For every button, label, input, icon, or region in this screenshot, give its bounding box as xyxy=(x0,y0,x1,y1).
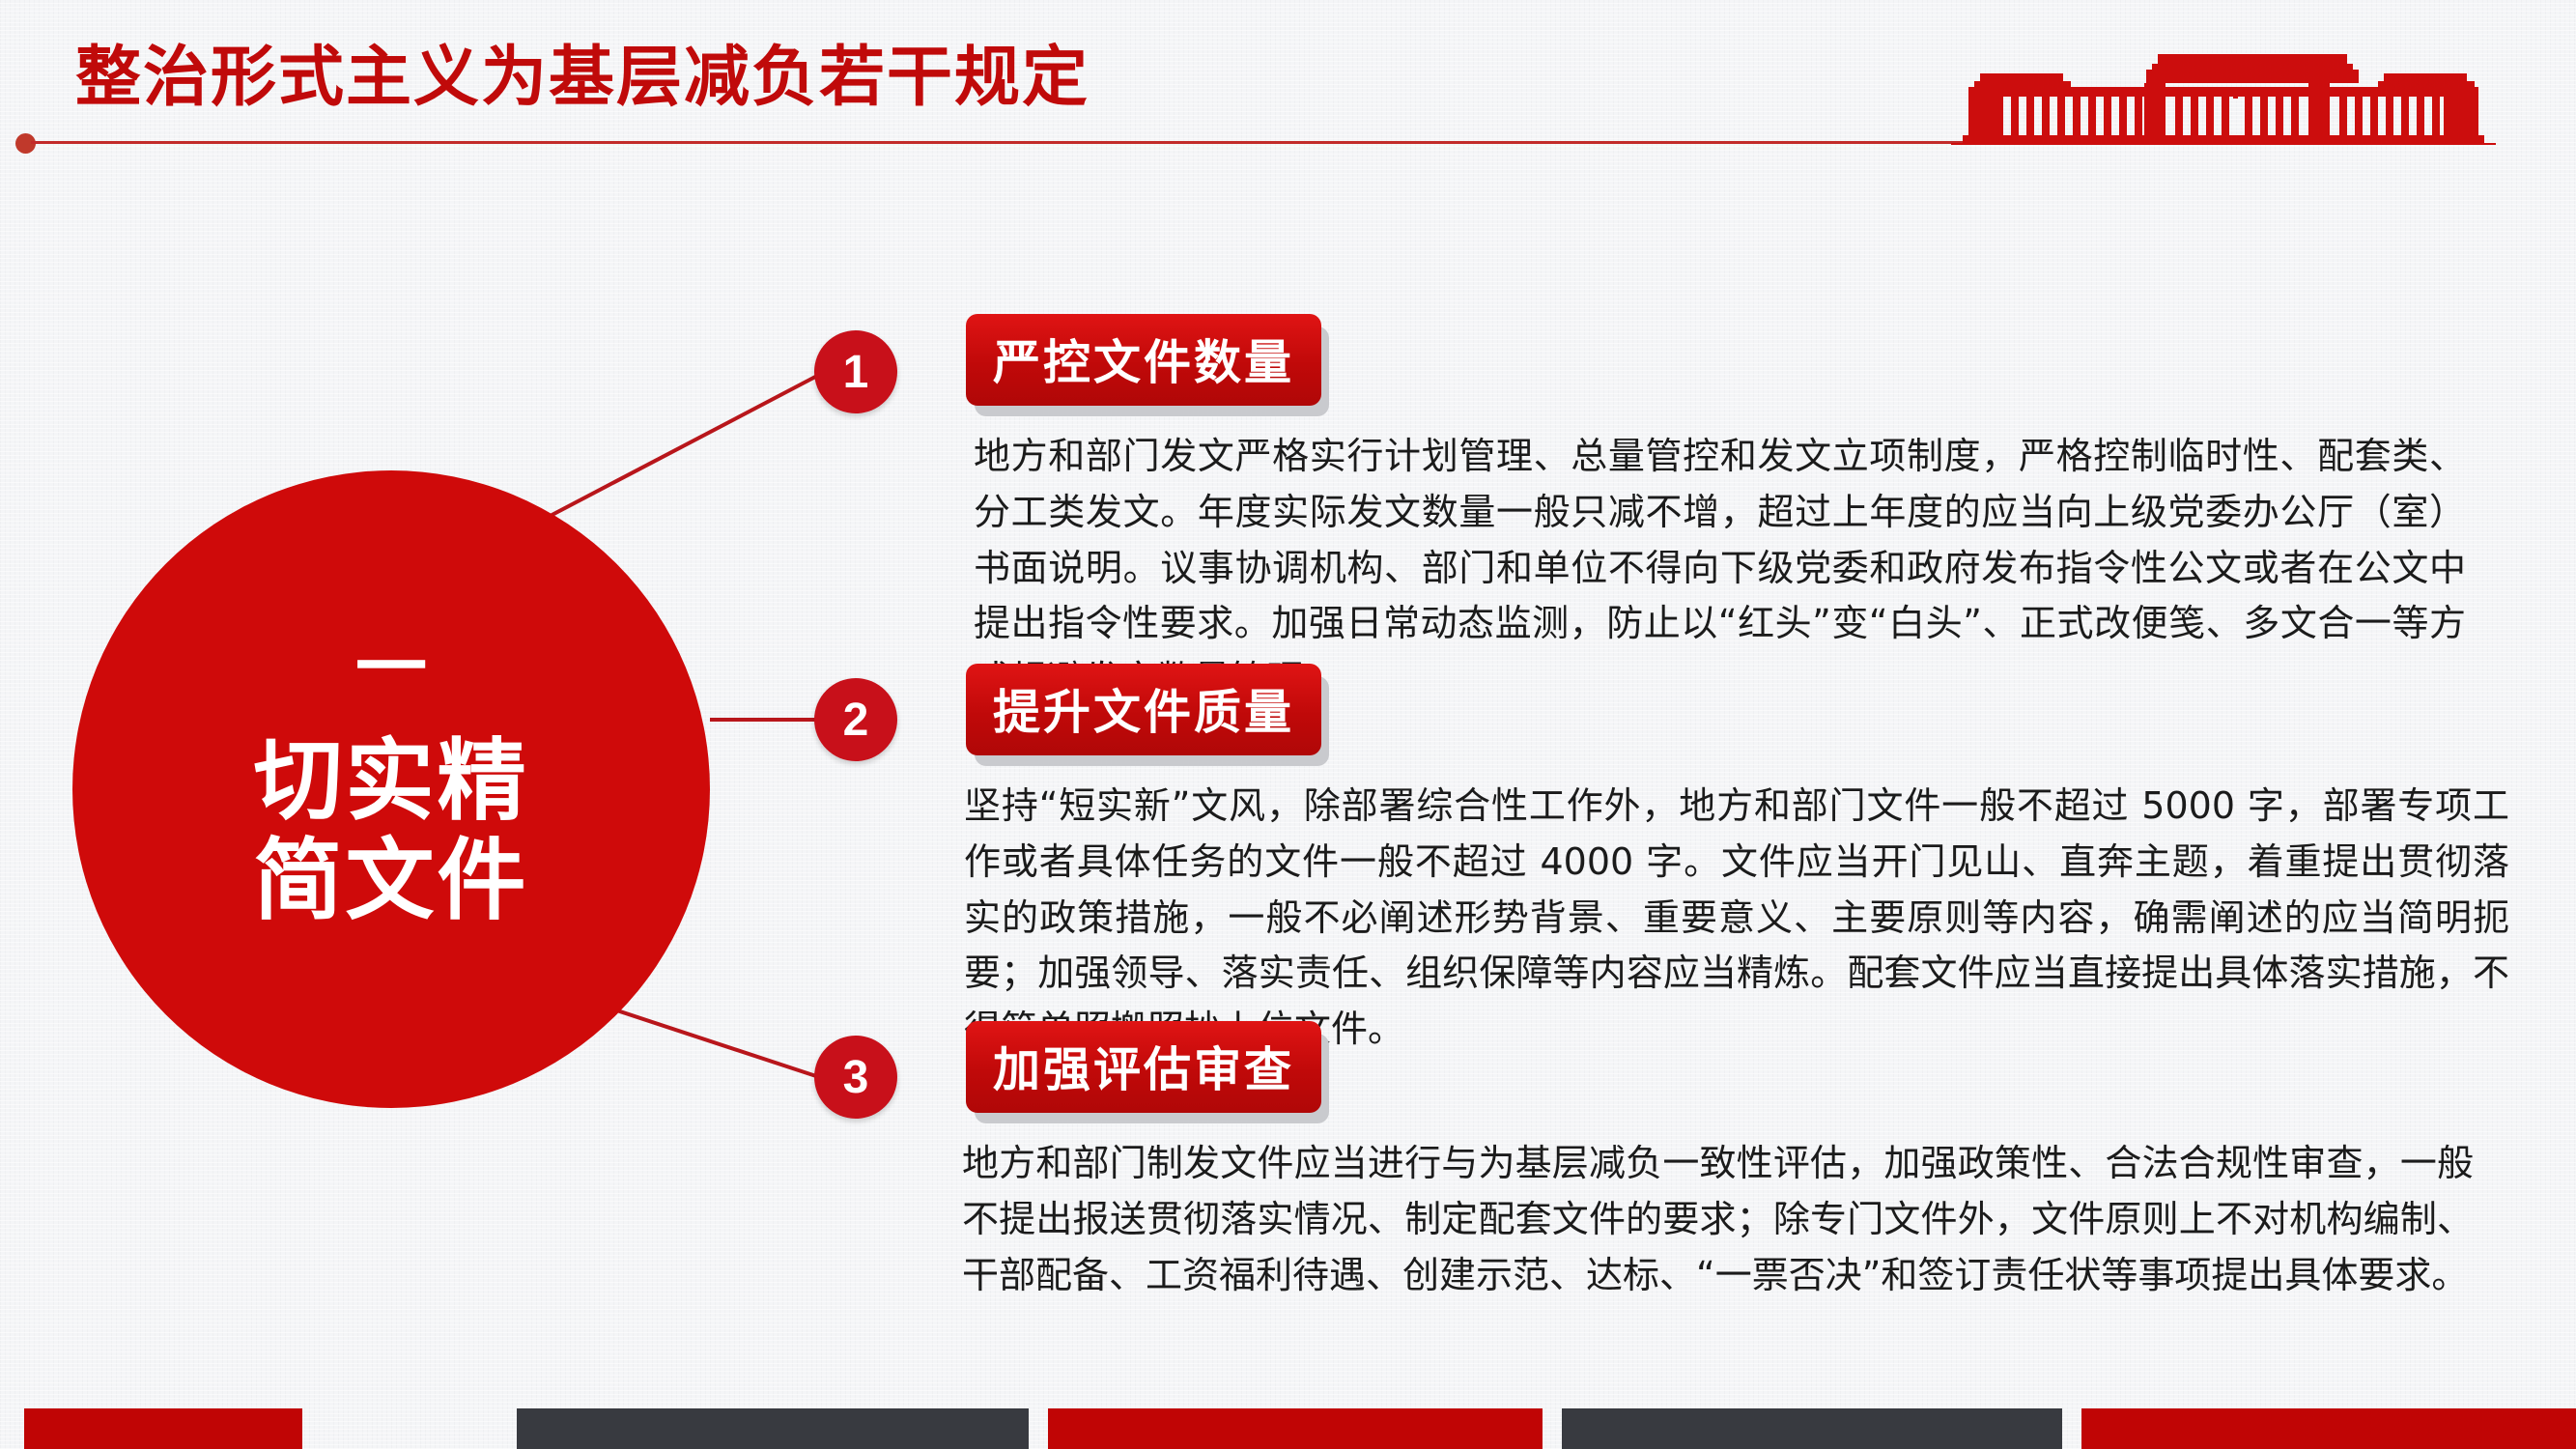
footer-bars xyxy=(0,1408,2576,1449)
hero-label-line2: 简文件 xyxy=(253,831,528,930)
number-badge-2[interactable]: 2 xyxy=(814,678,897,761)
footer-bar-red-3 xyxy=(2081,1408,2576,1449)
title-rule xyxy=(31,141,2016,144)
hero-kicker: 一 xyxy=(355,648,427,688)
section-3-title-wrap: 加强评估审查 xyxy=(966,1021,1321,1113)
hero-label-line1: 切实精 xyxy=(253,731,528,831)
page-title: 整治形式主义为基层减负若干规定 xyxy=(75,23,1090,119)
section-2-title[interactable]: 提升文件质量 xyxy=(966,664,1321,755)
section-1-title-wrap: 严控文件数量 xyxy=(966,314,1321,406)
number-badge-1[interactable]: 1 xyxy=(814,330,897,413)
footer-bar-red-1 xyxy=(24,1408,302,1449)
section-1-title[interactable]: 严控文件数量 xyxy=(966,314,1321,406)
page-header: 整治形式主义为基层减负若干规定 xyxy=(0,0,2576,164)
footer-bar-dark-2 xyxy=(1562,1408,2062,1449)
footer-bar-dark-1 xyxy=(517,1408,1029,1449)
section-2: 提升文件质量 坚持“短实新”文风，除部署综合性工作外，地方和部门文件一般不超过 … xyxy=(966,664,2511,1058)
section-3: 加强评估审查 地方和部门制发文件应当进行与为基层减负一致性评估，加强政策性、合法… xyxy=(966,1021,2511,1303)
number-badge-3[interactable]: 3 xyxy=(814,1036,897,1119)
section-3-body: 地方和部门制发文件应当进行与为基层减负一致性评估，加强政策性、合法合规性审查，一… xyxy=(962,1136,2474,1303)
great-hall-icon xyxy=(1905,29,2542,145)
section-1: 严控文件数量 地方和部门发文严格实行计划管理、总量管控和发文立项制度，严格控制临… xyxy=(966,314,2473,708)
footer-bar-red-2 xyxy=(1048,1408,1543,1449)
section-3-title[interactable]: 加强评估审查 xyxy=(966,1021,1321,1113)
section-2-body: 坚持“短实新”文风，除部署综合性工作外，地方和部门文件一般不超过 5000 字，… xyxy=(964,779,2509,1058)
section-2-title-wrap: 提升文件质量 xyxy=(966,664,1321,755)
hero-circle: 一 切实精 简文件 xyxy=(72,470,710,1108)
